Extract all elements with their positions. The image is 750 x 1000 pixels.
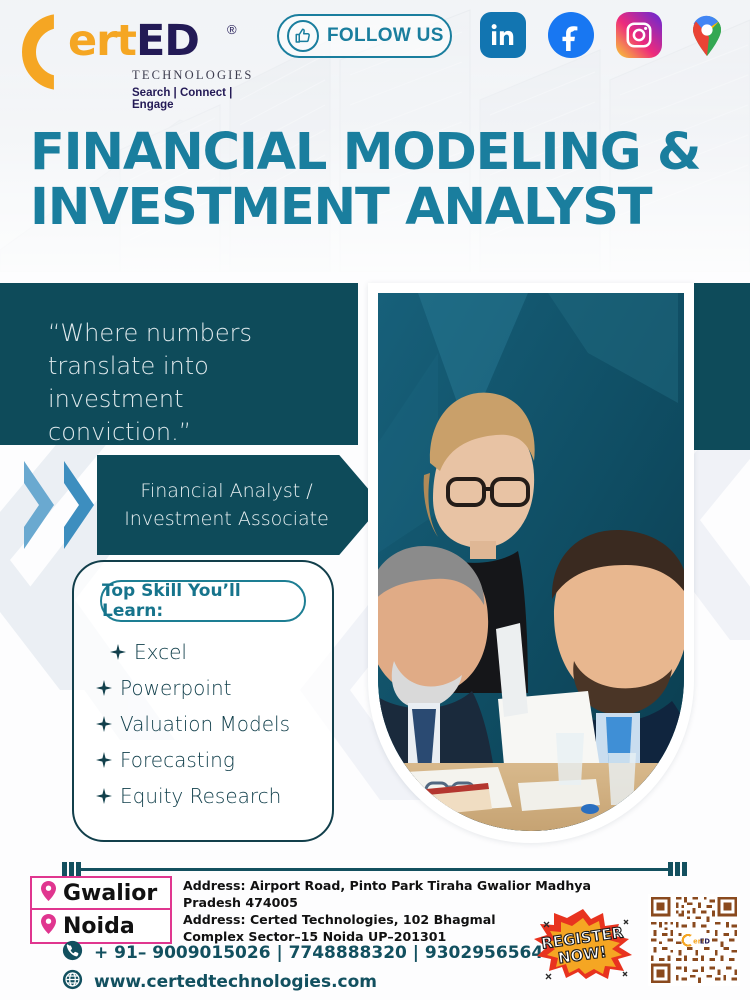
follow-us-label: FOLLOW US <box>327 25 444 47</box>
title-line-1: FINANCIAL MODELING & <box>30 125 730 180</box>
skills-card: Top Skill You’ll Learn: Excel Powerpoint… <box>72 560 334 842</box>
google-maps-icon[interactable] <box>684 12 730 58</box>
role-banner-row: Financial Analyst / Investment Associate <box>22 455 382 555</box>
divider-line <box>80 868 670 871</box>
city-label: Noida <box>63 914 135 939</box>
location-pin-icon <box>41 881 56 906</box>
phone-row[interactable]: + 91– 9009015026 | 7748888320 | 93029565… <box>62 938 543 967</box>
website-row[interactable]: www.certedtechnologies.com <box>62 967 543 996</box>
divider-chevron-right-icon <box>668 862 688 876</box>
thumbs-up-icon <box>287 20 319 52</box>
follow-us-pill[interactable]: FOLLOW US <box>277 14 452 58</box>
logo-ert-text: ert <box>68 16 136 66</box>
sparkle-bullet-icon <box>96 752 112 768</box>
website-url: www.certedtechnologies.com <box>94 972 377 992</box>
role-banner: Financial Analyst / Investment Associate <box>97 455 382 555</box>
skill-item: Excel <box>96 634 332 670</box>
skill-item: Equity Research <box>96 778 332 814</box>
registration-qr-code[interactable]: ert ED <box>648 894 740 986</box>
phone-numbers: + 91– 9009015026 | 7748888320 | 93029565… <box>94 943 543 963</box>
sparkle-bullet-icon <box>96 716 112 732</box>
city-item-gwalior[interactable]: Gwalior <box>30 876 172 910</box>
city-label: Gwalior <box>63 881 157 906</box>
skills-heading-label: Top Skill You’ll Learn: <box>102 581 304 621</box>
sparkle-bullet-icon <box>96 680 112 696</box>
logo-tagline: Search | Connect | Engage <box>132 87 252 111</box>
instagram-icon[interactable] <box>616 12 662 58</box>
chevron-icon-inner <box>62 455 98 555</box>
quote-box: “Where numbers translate into investment… <box>0 283 358 445</box>
facebook-icon[interactable] <box>548 12 594 58</box>
phone-icon <box>62 940 83 966</box>
skills-heading-pill: Top Skill You’ll Learn: <box>100 580 306 622</box>
social-links <box>480 12 730 58</box>
flyer-page: ertED ® TECHNOLOGIES Search | Connect | … <box>0 0 750 1000</box>
svg-text:ED: ED <box>700 938 711 946</box>
skills-list: Excel Powerpoint Valuation Models Foreca… <box>74 634 332 814</box>
address-line: Address: Airport Road, Pinto Park Tiraha… <box>183 878 623 895</box>
certed-logo[interactable]: ertED ® TECHNOLOGIES Search | Connect | … <box>22 12 252 117</box>
logo-technologies-text: TECHNOLOGIES <box>132 68 254 83</box>
skill-label: Excel <box>134 640 187 664</box>
skill-item: Forecasting <box>96 742 332 778</box>
quote-text: “Where numbers translate into investment… <box>48 317 332 449</box>
accent-block-right <box>694 283 750 450</box>
register-now-badge[interactable]: REGISTER NOW! <box>528 908 638 980</box>
skill-label: Valuation Models <box>120 712 290 736</box>
skill-label: Forecasting <box>120 748 235 772</box>
role-text: Financial Analyst / Investment Associate <box>97 477 382 534</box>
divider-chevron-left-icon <box>62 862 82 876</box>
flyer-title: FINANCIAL MODELING & INVESTMENT ANALYST <box>30 125 730 235</box>
skill-label: Powerpoint <box>120 676 231 700</box>
skill-item: Powerpoint <box>96 670 332 706</box>
skill-label: Equity Research <box>120 784 281 808</box>
sparkle-bullet-icon <box>110 644 126 660</box>
chevron-icon-outer <box>22 455 58 555</box>
team-photo-frame <box>368 283 694 843</box>
logo-wordmark: ertED <box>68 20 199 63</box>
registered-mark-icon: ® <box>227 22 237 37</box>
globe-icon <box>62 969 83 995</box>
city-list: Gwalior Noida <box>30 876 172 944</box>
team-photo <box>378 293 684 831</box>
footer-divider <box>62 862 688 876</box>
logo-mark: ertED ® TECHNOLOGIES Search | Connect | … <box>22 12 252 90</box>
sparkle-bullet-icon <box>96 788 112 804</box>
title-line-2: INVESTMENT ANALYST <box>30 180 730 235</box>
skill-item: Valuation Models <box>96 706 332 742</box>
location-pin-icon <box>41 914 56 939</box>
linkedin-icon[interactable] <box>480 12 526 58</box>
contact-block: + 91– 9009015026 | 7748888320 | 93029565… <box>62 938 543 996</box>
logo-ed-text: ED <box>136 16 199 66</box>
